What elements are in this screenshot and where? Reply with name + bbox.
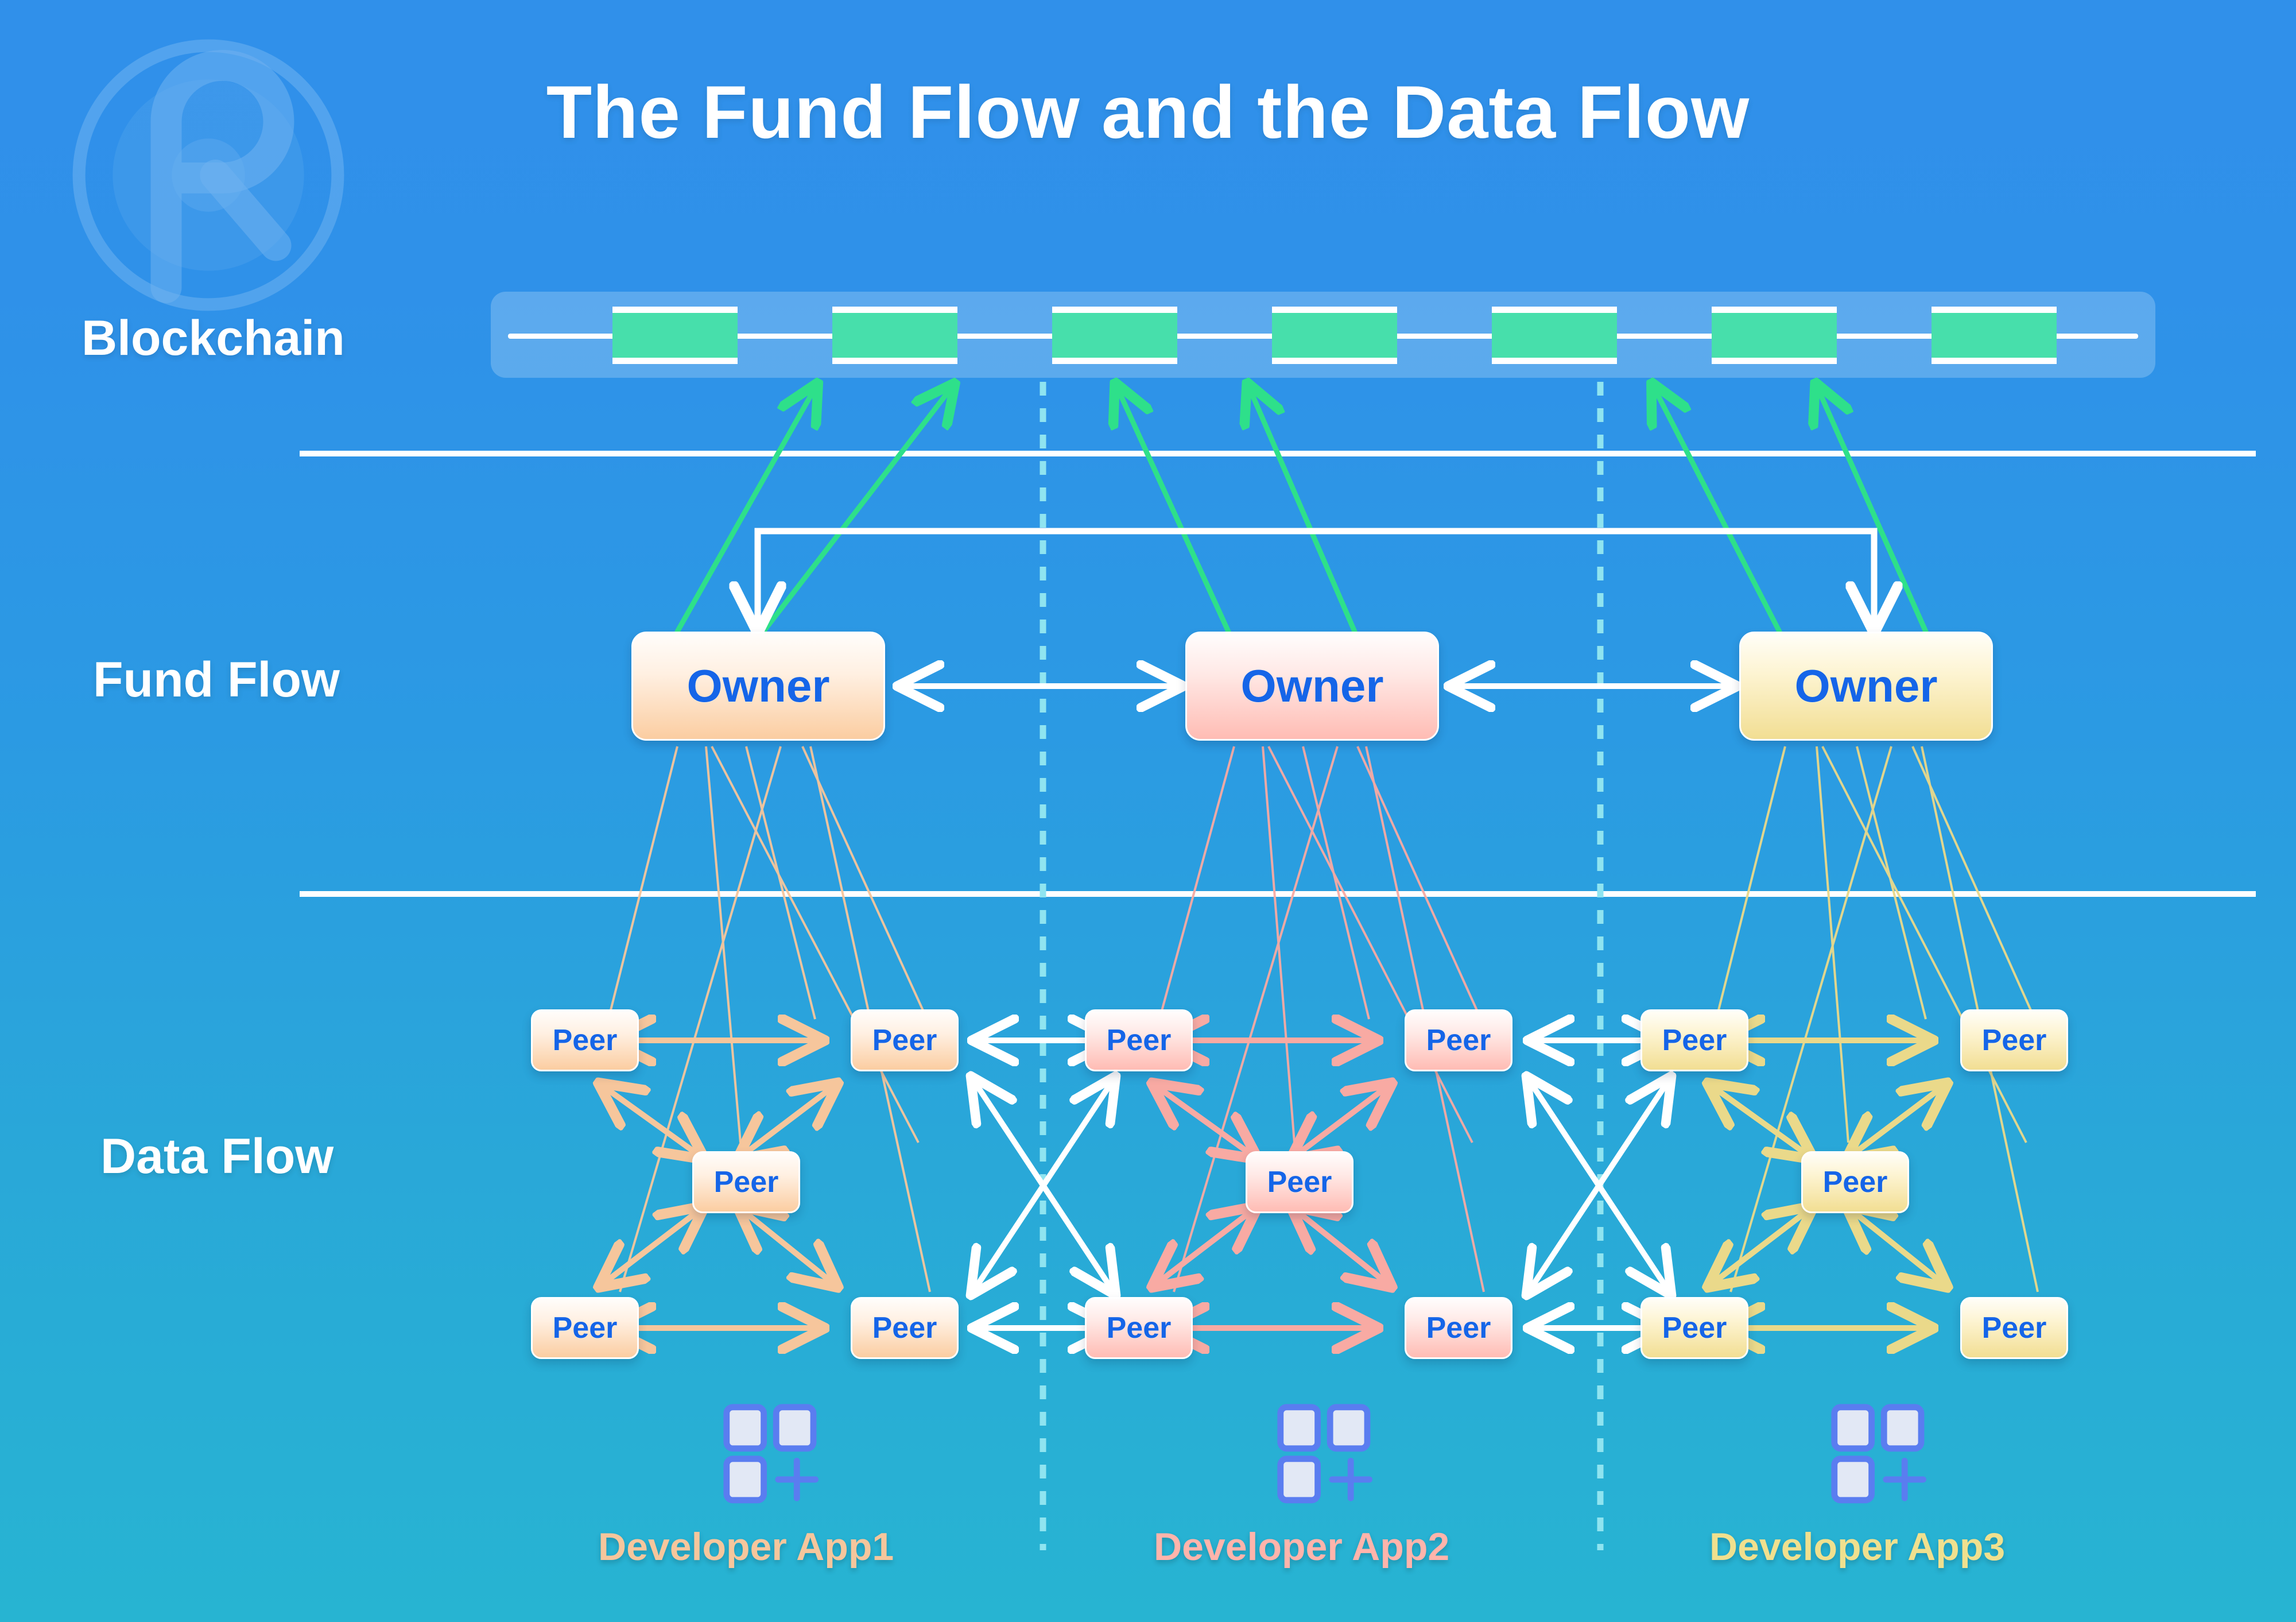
- connector-layer: [0, 0, 2296, 1622]
- fund-to-chain-arrow: [677, 386, 816, 632]
- peer-node-g3-top-left[interactable]: Peer: [1640, 1009, 1748, 1071]
- peer-node-g2-center[interactable]: Peer: [1246, 1151, 1353, 1213]
- peer-node-g1-bottom-right[interactable]: Peer: [851, 1297, 959, 1359]
- app-label-1: Developer App1: [598, 1524, 894, 1569]
- peer-node-g3-bottom-left[interactable]: Peer: [1640, 1297, 1748, 1359]
- app-grid-plus-icon: [1274, 1401, 1378, 1504]
- owner-to-blockchain-arrows: [677, 386, 1926, 632]
- app-label-3: Developer App3: [1709, 1524, 2005, 1569]
- peer-node-g1-center[interactable]: Peer: [692, 1151, 800, 1213]
- app-grid-plus-icon-2[interactable]: [1274, 1401, 1378, 1504]
- peer-node-g3-top-right[interactable]: Peer: [1960, 1009, 2068, 1071]
- owner-label: Owner: [687, 660, 830, 713]
- fund-to-chain-arrow: [1248, 386, 1355, 632]
- app-grid-plus-icon-1[interactable]: [720, 1401, 824, 1504]
- peer-node-g1-top-right[interactable]: Peer: [851, 1009, 959, 1071]
- fund-to-chain-arrow: [763, 386, 953, 632]
- owner-node-3[interactable]: Owner: [1739, 632, 1993, 741]
- peer-node-g2-top-right[interactable]: Peer: [1405, 1009, 1512, 1071]
- fund-to-chain-arrow: [1653, 386, 1779, 632]
- peer-label: Peer: [1662, 1311, 1727, 1345]
- owner-node-1[interactable]: Owner: [631, 632, 885, 741]
- owner-label: Owner: [1795, 660, 1938, 713]
- peer-node-g2-bottom-left[interactable]: Peer: [1085, 1297, 1193, 1359]
- owner-label: Owner: [1241, 660, 1384, 713]
- peer-label: Peer: [1267, 1165, 1332, 1199]
- peer-label: Peer: [872, 1023, 937, 1058]
- peer-label: Peer: [1823, 1165, 1888, 1199]
- peer-node-g3-bottom-right[interactable]: Peer: [1960, 1297, 2068, 1359]
- peer-label: Peer: [1426, 1311, 1491, 1345]
- peer-label: Peer: [553, 1023, 618, 1058]
- diagram-canvas: The Fund Flow and the Data Flow Blockcha…: [0, 0, 2296, 1622]
- peer-label: Peer: [1662, 1023, 1727, 1058]
- app-grid-plus-icon-3[interactable]: [1828, 1401, 1932, 1504]
- peer-label: Peer: [714, 1165, 779, 1199]
- peer-node-g1-top-left[interactable]: Peer: [531, 1009, 639, 1071]
- peer-node-g2-top-left[interactable]: Peer: [1085, 1009, 1193, 1071]
- peer-label: Peer: [872, 1311, 937, 1345]
- peer-label: Peer: [1107, 1311, 1172, 1345]
- app-grid-plus-icon: [1828, 1401, 1932, 1504]
- peer-label: Peer: [1982, 1023, 2047, 1058]
- peer-label: Peer: [1982, 1311, 2047, 1345]
- app-label-2: Developer App2: [1154, 1524, 1449, 1569]
- peer-node-g1-bottom-left[interactable]: Peer: [531, 1297, 639, 1359]
- peer-label: Peer: [1107, 1023, 1172, 1058]
- peer-label: Peer: [553, 1311, 618, 1345]
- peer-label: Peer: [1426, 1023, 1491, 1058]
- peer-node-g2-bottom-right[interactable]: Peer: [1405, 1297, 1512, 1359]
- owner-node-2[interactable]: Owner: [1185, 632, 1439, 741]
- peer-node-g3-center[interactable]: Peer: [1801, 1151, 1909, 1213]
- app-grid-plus-icon: [720, 1401, 824, 1504]
- fund-to-chain-arrow: [1116, 386, 1228, 632]
